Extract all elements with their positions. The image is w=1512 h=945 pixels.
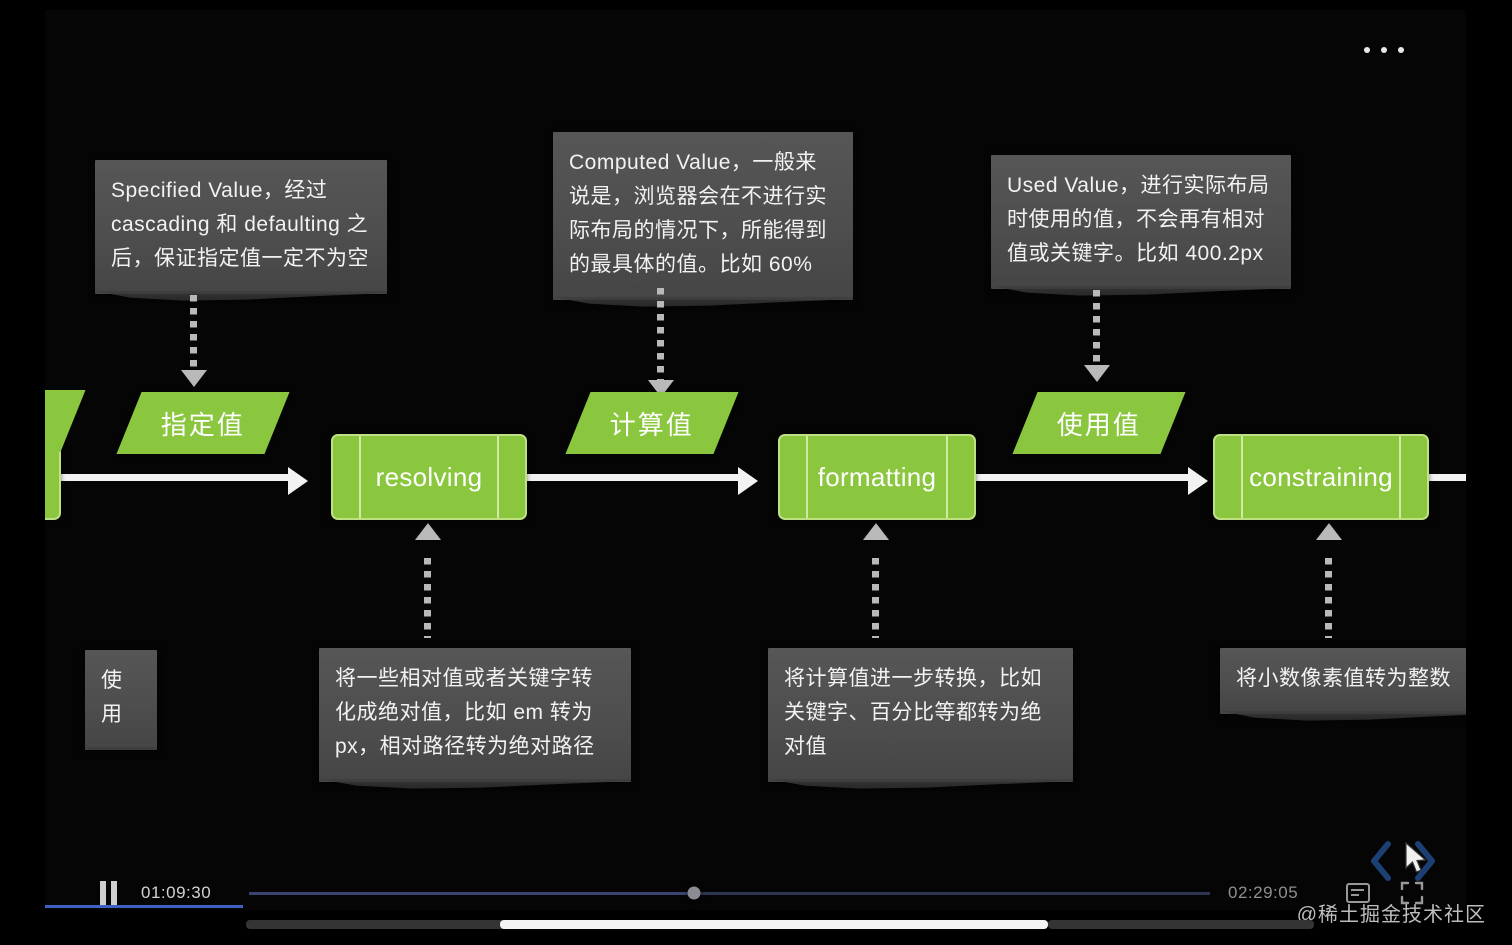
video-player-window: Specified Value，经过 cascading 和 defaultin… (0, 0, 1512, 945)
current-time-label: 01:09:30 (141, 883, 231, 903)
connector-specified-dotted (190, 295, 197, 373)
scrollbar-thumb[interactable] (500, 920, 1048, 929)
connector-formatting-dotted (872, 558, 879, 638)
flow-arrow-2 (738, 467, 758, 495)
seek-handle[interactable] (687, 887, 700, 900)
process-node-constraining-label: constraining (1249, 462, 1393, 493)
flow-arrow-1 (288, 467, 308, 495)
pause-bar-right (111, 881, 117, 905)
connector-used-arrowhead (1084, 365, 1110, 382)
value-node-computed-label: 计算值 (610, 405, 694, 442)
scrollbar-track-left[interactable] (246, 920, 514, 929)
value-node-used-label: 使用值 (1057, 405, 1141, 442)
connector-specified-arrowhead (181, 370, 207, 387)
value-node-specified-label: 指定值 (161, 405, 245, 442)
callout-specified-value: Specified Value，经过 cascading 和 defaultin… (95, 160, 387, 294)
scrollbar-track-right[interactable] (1048, 920, 1314, 929)
seek-buffered (249, 892, 694, 895)
pause-bar-left (100, 881, 106, 905)
more-options-icon[interactable] (1364, 40, 1404, 60)
pause-button[interactable] (95, 880, 121, 906)
connector-constraining-dotted (1325, 558, 1332, 638)
connector-resolving-dotted (424, 558, 431, 638)
flow-line-2 (525, 474, 743, 481)
flow-arrow-3 (1188, 467, 1208, 495)
process-node-constraining[interactable]: constraining (1213, 434, 1429, 520)
process-node-formatting[interactable]: formatting (778, 434, 976, 520)
flow-line-1 (45, 474, 293, 481)
value-node-cut-left (45, 390, 86, 452)
value-node-computed[interactable]: 计算值 (565, 392, 738, 454)
callout-cut-left: 使用 (85, 650, 157, 750)
connector-computed-dotted (657, 288, 664, 383)
callout-formatting: 将计算值进一步转换，比如 关键字、百分比等都转为绝 对值 (768, 648, 1073, 782)
callout-used-value: Used Value，进行实际布局 时使用的值，不会再有相对 值或关键字。比如 … (991, 155, 1291, 289)
seek-bar[interactable] (249, 892, 1210, 895)
callout-resolving: 将一些相对值或者关键字转 化成绝对值，比如 em 转为 px，相对路径转为绝对路… (319, 648, 631, 782)
connector-constraining-arrowhead (1316, 523, 1342, 540)
process-node-resolving-label: resolving (376, 462, 483, 493)
value-node-specified[interactable]: 指定值 (116, 392, 289, 454)
flow-line-3 (975, 474, 1193, 481)
dot-3 (1398, 47, 1404, 53)
process-node-formatting-label: formatting (818, 462, 937, 493)
video-surface[interactable]: Specified Value，经过 cascading 和 defaultin… (45, 10, 1466, 910)
connector-used-dotted (1093, 290, 1100, 368)
dot-2 (1381, 47, 1387, 53)
value-node-used[interactable]: 使用值 (1012, 392, 1185, 454)
callout-computed-value: Computed Value，一般来 说是，浏览器会在不进行实 际布局的情况下，… (553, 132, 853, 300)
connector-formatting-arrowhead (863, 523, 889, 540)
callout-constraining: 将小数像素值转为整数 (1220, 648, 1466, 714)
process-node-resolving[interactable]: resolving (331, 434, 527, 520)
dot-1 (1364, 47, 1370, 53)
horizontal-scrollbar[interactable] (0, 920, 1512, 929)
flow-line-4 (1423, 474, 1466, 481)
player-controls: 01:09:30 02:29:05 (45, 869, 1466, 917)
connector-resolving-arrowhead (415, 523, 441, 540)
